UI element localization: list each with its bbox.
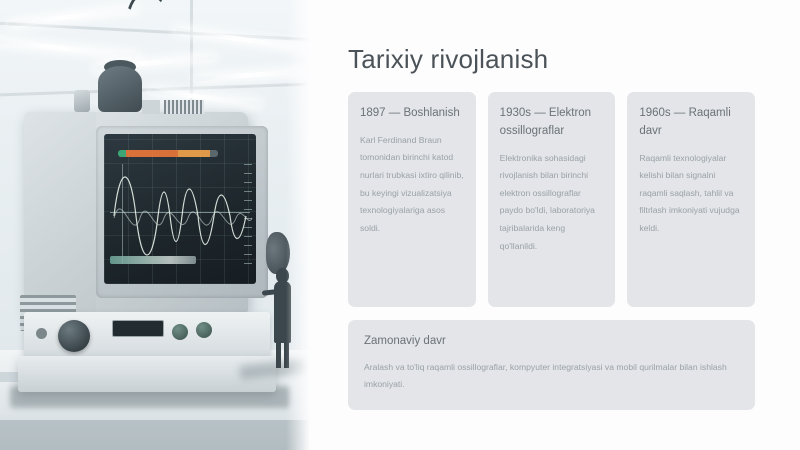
person-leg <box>276 340 281 368</box>
equipment-base <box>18 356 276 392</box>
top-grille-icon <box>164 100 204 114</box>
chassis-side-panel <box>24 112 96 312</box>
timeline-card-1[interactable]: 1897 — Boshlanish Karl Ferdinand Braun t… <box>348 92 476 307</box>
screen-lower-indicator <box>110 256 196 264</box>
content-panel: Tarixiy rivojlanish 1897 — Boshlanish Ka… <box>310 0 800 450</box>
card-text: Aralash va to'liq raqamli ossillograflar… <box>364 359 739 393</box>
digital-readout <box>112 320 164 337</box>
chassis-nub <box>142 100 160 114</box>
main-tuning-knob <box>58 320 90 352</box>
timeline-card-2[interactable]: 1930s — Elektron ossillograflar Elektron… <box>488 92 616 307</box>
card-text: Elektronika sohasidagi rivojlanish bilan… <box>500 150 604 256</box>
card-text: Karl Ferdinand Braun tomonidan birinchi … <box>360 132 464 238</box>
floor-strip <box>0 420 310 450</box>
card-title: 1930s — Elektron ossillograflar <box>500 105 604 141</box>
timeline-card-3[interactable]: 1960s — Raqamli davr Raqamli texnologiya… <box>627 92 755 307</box>
cathode-tube-cap <box>98 66 142 112</box>
card-title: 1960s — Raqamli davr <box>639 105 743 141</box>
slide-root: Tarixiy rivojlanish 1897 — Boshlanish Ka… <box>0 0 800 450</box>
secondary-knob <box>196 322 212 338</box>
oscilloscope-screen <box>104 134 256 284</box>
card-title: Zamonaviy davr <box>364 335 739 347</box>
oscilloscope-illustration <box>0 0 310 450</box>
modern-era-card[interactable]: Zamonaviy davr Aralash va to'liq raqamli… <box>348 320 755 410</box>
page-title: Tarixiy rivojlanish <box>348 44 755 75</box>
card-text: Raqamli texnologiyalar kelishi bilan sig… <box>639 150 743 238</box>
timeline-cards: 1897 — Boshlanish Karl Ferdinand Braun t… <box>348 92 755 307</box>
probe-connector <box>74 90 90 112</box>
indicator-led <box>36 328 47 339</box>
card-title: 1897 — Boshlanish <box>360 105 464 123</box>
illustration-fade <box>286 0 310 450</box>
secondary-knob <box>172 324 188 340</box>
